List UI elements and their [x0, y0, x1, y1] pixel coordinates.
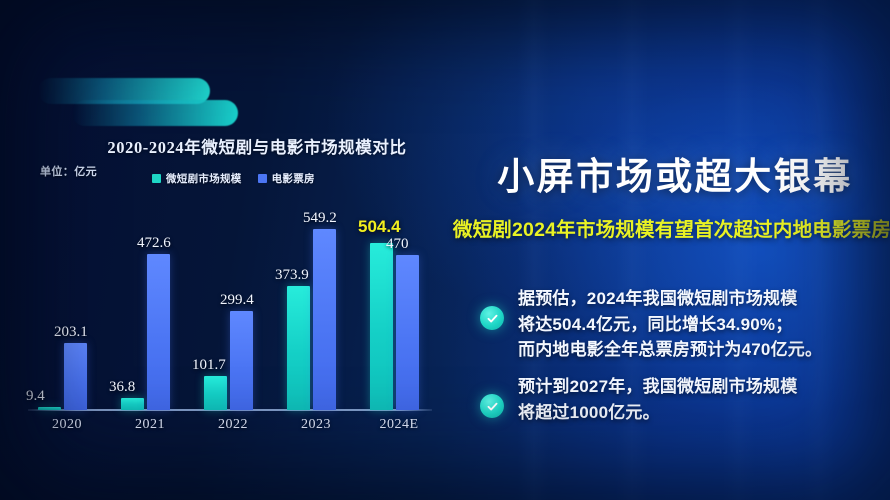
x-axis-label-2023: 2023 — [277, 417, 355, 433]
bullet-text-2: 预计到2027年，我国微短剧市场规模 将超过1000亿元。 — [518, 374, 797, 425]
bullet-text-1: 据预估，2024年我国微短剧市场规模 将达504.4亿元，同比增长34.90%；… — [518, 286, 822, 363]
legend-item-micro-drama[interactable]: 微短剧市场规模 — [152, 171, 242, 186]
bar-group-2024e: 504.4470 — [360, 195, 438, 410]
subheadline: 微短剧2024年市场规模有望首次超过内地电影票房 — [452, 213, 890, 242]
legend-label-box-office: 电影票房 — [272, 171, 315, 186]
bar-2020-box-office[interactable] — [64, 343, 87, 410]
bar-value-label-2020-micro-drama: 9.4 — [26, 388, 45, 405]
headline: 小屏市场或超大银幕 — [474, 146, 876, 200]
bar-value-label-2021-micro-drama: 36.8 — [109, 379, 135, 396]
bar-group-2022: 101.7299.4 — [194, 195, 272, 410]
bar-2020-micro-drama[interactable] — [38, 407, 61, 410]
legend-swatch-teal — [152, 174, 161, 183]
bar-value-label-2021-box-office: 472.6 — [137, 235, 171, 252]
bar-value-label-2020-box-office: 203.1 — [54, 324, 88, 341]
check-circle-icon — [480, 306, 504, 330]
bar-2022-box-office[interactable] — [230, 311, 253, 410]
bar-value-label-2024e-box-office: 470 — [386, 236, 409, 253]
bullet-item-2: 预计到2027年，我国微短剧市场规模 将超过1000亿元。 — [480, 374, 797, 425]
bar-value-label-2022-micro-drama: 101.7 — [192, 357, 226, 374]
bar-group-2021: 36.8472.6 — [111, 195, 189, 410]
bar-2024e-box-office[interactable] — [396, 255, 419, 410]
bar-value-label-2023-micro-drama: 373.9 — [275, 267, 309, 284]
infographic-slide: 2020-2024年微短剧与电影市场规模对比 单位：亿元 微短剧市场规模 电影票… — [0, 0, 890, 500]
chart-panel: 2020-2024年微短剧与电影市场规模对比 单位：亿元 微短剧市场规模 电影票… — [0, 0, 456, 500]
bar-group-2020: 9.4203.1 — [28, 195, 106, 410]
legend-item-box-office[interactable]: 电影票房 — [258, 171, 315, 186]
bar-2024e-micro-drama[interactable] — [370, 243, 393, 410]
legend-label-micro-drama: 微短剧市场规模 — [166, 171, 242, 186]
bar-value-label-2022-box-office: 299.4 — [220, 292, 254, 309]
bar-group-2023: 373.9549.2 — [277, 195, 355, 410]
bar-2023-box-office[interactable] — [313, 229, 336, 410]
bar-value-label-2024e-micro-drama: 504.4 — [358, 217, 401, 237]
chart-title: 2020-2024年微短剧与电影市场规模对比 — [92, 134, 422, 158]
bullet-item-1: 据预估，2024年我国微短剧市场规模 将达504.4亿元，同比增长34.90%；… — [480, 286, 822, 363]
x-axis-label-2022: 2022 — [194, 417, 272, 433]
check-circle-icon — [480, 394, 504, 418]
x-axis-label-2020: 2020 — [28, 417, 106, 433]
x-axis-label-2024e: 2024E — [360, 417, 438, 433]
bar-2023-micro-drama[interactable] — [287, 286, 310, 410]
bar-2021-box-office[interactable] — [147, 254, 170, 410]
legend-swatch-blue — [258, 174, 267, 183]
bar-value-label-2023-box-office: 549.2 — [303, 210, 337, 227]
chart-unit-label: 单位：亿元 — [40, 163, 97, 179]
bar-2022-micro-drama[interactable] — [204, 376, 227, 410]
bar-2021-micro-drama[interactable] — [121, 398, 144, 410]
x-axis-label-2021: 2021 — [111, 417, 189, 433]
text-panel: 小屏市场或超大银幕 微短剧2024年市场规模有望首次超过内地电影票房 据预估，2… — [456, 0, 890, 500]
chart-legend: 微短剧市场规模 电影票房 — [152, 171, 315, 186]
